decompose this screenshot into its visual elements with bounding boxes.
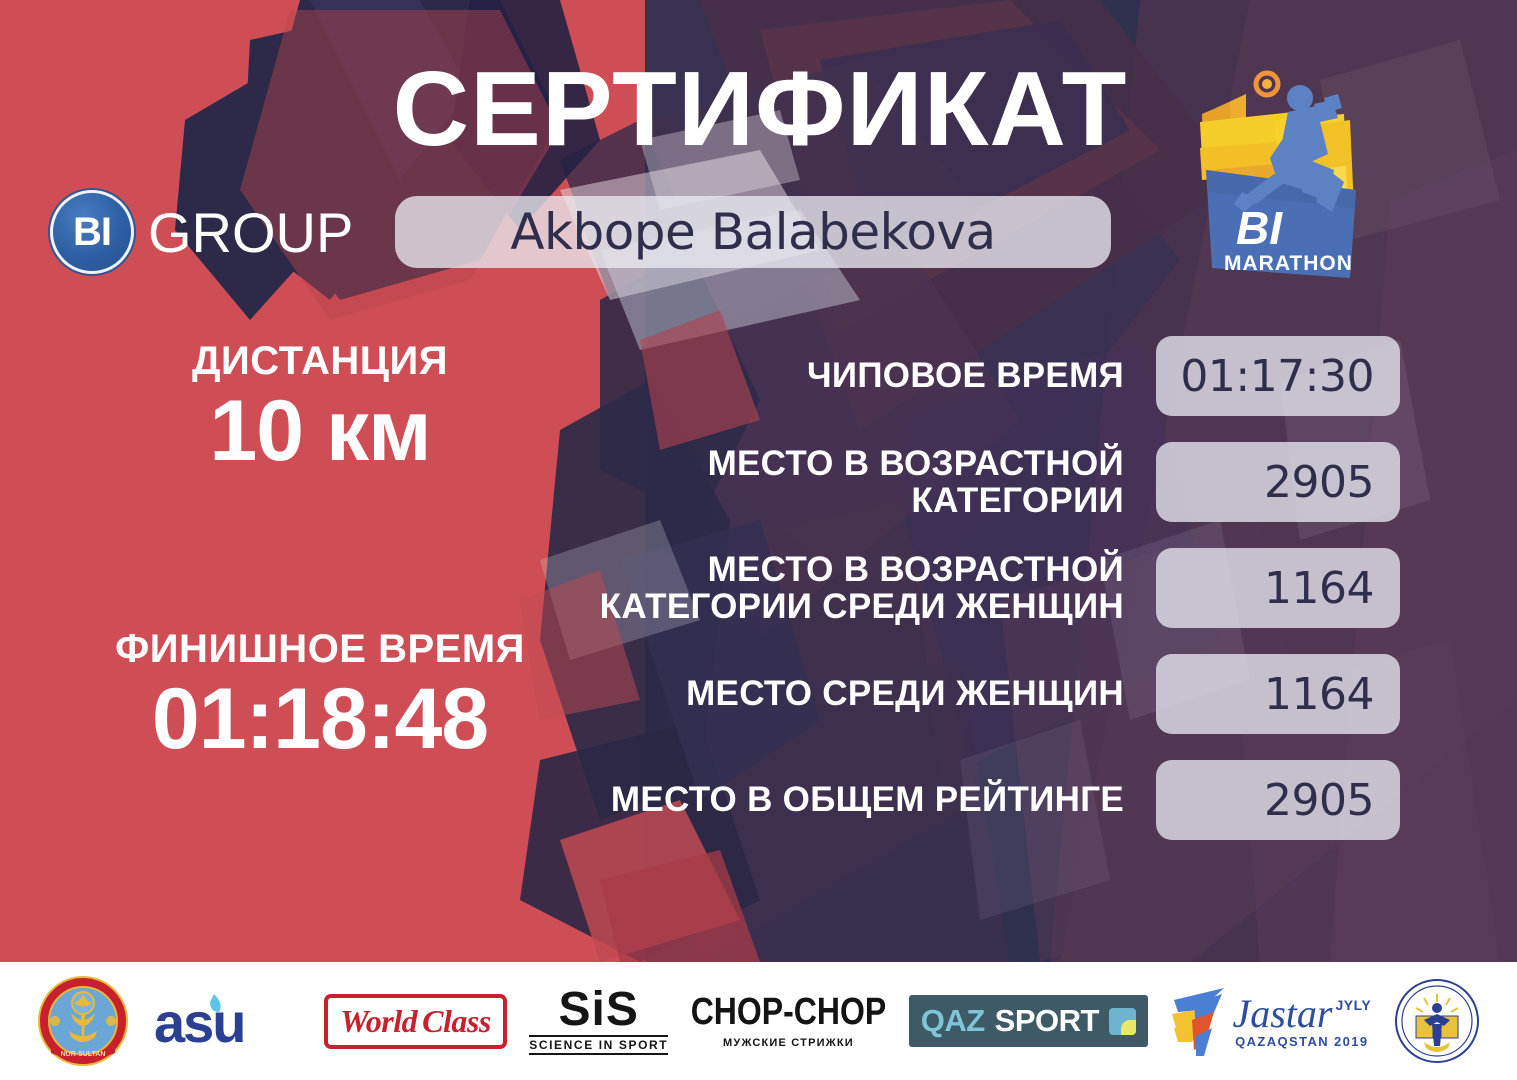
stat-row: ЧИПОВОЕ ВРЕМЯ 01:17:30 [520,336,1400,416]
sponsor-logo-asu: asu [152,978,302,1064]
stat-value-pill: 1164 [1156,548,1400,628]
bi-marathon-logo-icon: BI MARATHON [1178,62,1388,297]
sponsor-logo-world-class: World Class [324,978,507,1064]
sponsor-logo-jastar-jyly: Jastar JYLY QAZAQSTAN 2019 [1170,978,1371,1064]
qazsport-mark-icon [1109,1008,1136,1035]
chop-chop-tagline: МУЖСКИЕ СТРИЖКИ [723,1037,854,1049]
chop-chop-wordmark: CHOP-CHOP [691,990,887,1034]
left-stats-spacer [60,480,580,628]
chop-chop-stack: CHOP-CHOP МУЖСКИЕ СТРИЖКИ [691,993,887,1049]
sis-tagline: SCIENCE IN SPORT [529,1035,668,1055]
stat-value-pill: 2905 [1156,760,1400,840]
stat-value-pill: 2905 [1156,442,1400,522]
sis-stack: SiS SCIENCE IN SPORT [529,987,668,1055]
stat-label: ЧИПОВОЕ ВРЕМЯ [520,357,1156,394]
distance-label: ДИСТАНЦИЯ [60,340,580,383]
stat-value: 01:17:30 [1180,351,1374,402]
stat-label: МЕСТО В ОБЩЕМ РЕЙТИНГЕ [520,781,1156,818]
bi-badge-label: BI [73,210,111,255]
jastar-bird-icon [1170,984,1232,1058]
world-class-word-2: Class [422,1003,491,1040]
asu-wordmark: asu [154,991,245,1052]
stat-value-pill: 1164 [1156,654,1400,734]
stat-value-pill: 01:17:30 [1156,336,1400,416]
sponsor-logo-qazsport: QAZ SPORT [909,978,1148,1064]
distance-block: ДИСТАНЦИЯ 10 км [60,340,580,480]
sponsor-logo-nur-sultan: NUR-SULTAN [37,978,129,1064]
stat-value: 2905 [1264,457,1374,508]
stat-row: МЕСТО СРЕДИ ЖЕНЩИН 1164 [520,654,1400,734]
marathon-logo-line1: BI [1236,202,1283,254]
finish-time-label: ФИНИШНОЕ ВРЕМЯ [60,628,580,671]
stat-label: МЕСТО В ВОЗРАСТНОЙ КАТЕГОРИИ [520,445,1156,519]
sponsor-logo-sis: SiS SCIENCE IN SPORT [529,978,668,1064]
stat-row: МЕСТО В ВОЗРАСТНОЙ КАТЕГОРИИ 2905 [520,442,1400,522]
sponsor-logo-chop-chop: CHOP-CHOP МУЖСКИЕ СТРИЖКИ [691,978,887,1064]
asu-logo-icon: asu [152,990,302,1052]
right-stats-column: ЧИПОВОЕ ВРЕМЯ 01:17:30 МЕСТО В ВОЗРАСТНО… [520,336,1400,866]
qazsport-word-2: SPORT [995,1003,1099,1039]
left-stats-column: ДИСТАНЦИЯ 10 км ФИНИШНОЕ ВРЕМЯ 01:18:48 [60,340,580,767]
jastar-superscript: JYLY [1335,998,1371,1012]
finish-time-value: 01:18:48 [60,671,580,767]
bi-marathon-logo: BI MARATHON [1178,62,1388,297]
jastar-wordmark: Jastar [1232,994,1332,1034]
stat-row: МЕСТО В ОБЩЕМ РЕЙТИНГЕ 2905 [520,760,1400,840]
participant-name: Akbope Balabekova [510,203,995,261]
marathon-logo-line2: MARATHON [1224,252,1353,275]
stat-row: МЕСТО В ВОЗРАСТНОЙ КАТЕГОРИИ СРЕДИ ЖЕНЩИ… [520,548,1400,628]
stat-label: МЕСТО В ВОЗРАСТНОЙ КАТЕГОРИИ СРЕДИ ЖЕНЩИ… [520,551,1156,625]
page-title: СЕРТИФИКАТ [380,56,1140,162]
qazsport-word-1: QAZ [921,1003,985,1039]
finish-time-block: ФИНИШНОЕ ВРЕМЯ 01:18:48 [60,628,580,768]
stat-value: 1164 [1264,669,1374,720]
stat-label: МЕСТО СРЕДИ ЖЕНЩИН [520,675,1156,712]
world-class-box: World Class [324,994,507,1049]
stat-value: 1164 [1264,563,1374,614]
sponsor-logo-ministry [1394,978,1480,1064]
sponsor-bar: NUR-SULTAN asu World Class SiS SCIENCE I… [0,962,1517,1080]
world-class-word-1: World [340,1003,417,1040]
ministry-emblem-icon [1394,978,1480,1064]
bi-group-logo: BI GROUP [50,190,353,274]
distance-value: 10 км [60,383,580,479]
stat-value: 2905 [1264,775,1374,826]
jastar-main-row: Jastar JYLY [1232,994,1371,1034]
certificate-canvas: СЕРТИФИКАТ BI GROUP Akbope Balabekova [0,0,1517,1080]
participant-name-pill: Akbope Balabekova [395,196,1111,268]
bi-badge-icon: BI [50,190,134,274]
jastar-text-stack: Jastar JYLY QAZAQSTAN 2019 [1232,994,1371,1048]
bi-group-wordmark: GROUP [148,200,353,265]
nur-sultan-emblem-icon: NUR-SULTAN [37,975,129,1067]
qazsport-box: QAZ SPORT [909,995,1148,1047]
sis-wordmark: SiS [559,987,639,1033]
jastar-tagline: QAZAQSTAN 2019 [1235,1035,1369,1048]
nur-sultan-emblem-label: NUR-SULTAN [61,1051,106,1058]
